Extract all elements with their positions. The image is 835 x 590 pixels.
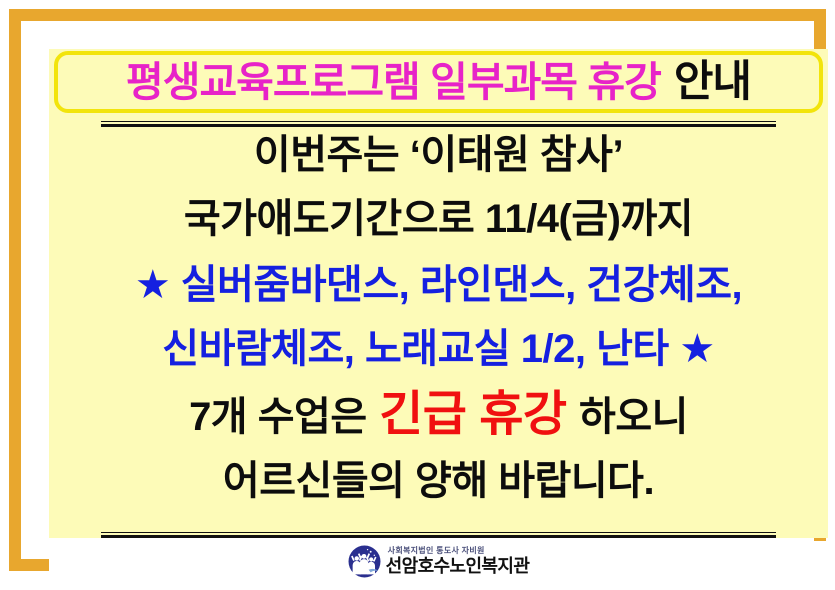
body-line-2: 국가애도기간으로 11/4(금)까지 <box>49 199 828 239</box>
organization-center-name: 선암호수노인복지관 <box>386 557 530 575</box>
body-line-1: 이번주는 ‘이태원 참사’ <box>49 135 828 175</box>
body-line-3-courses-a: ★ 실버줌바댄스, 라인댄스, 건강체조, <box>49 265 828 305</box>
divider-bottom <box>101 532 776 538</box>
content-panel: 평생교육프로그램 일부과목 휴강 안내 이번주는 ‘이태원 참사’ 국가애도기간… <box>49 49 828 538</box>
body-line-5: 7개 수업은 긴급 휴강 하오니 <box>49 391 828 439</box>
body-line-5-prefix: 7개 수업은 <box>189 395 367 439</box>
body-text-block: 이번주는 ‘이태원 참사’ 국가애도기간으로 11/4(금)까지 ★ 실버줌바댄… <box>49 131 828 501</box>
organization-logo-text: 사회복지법인 통도사 자비원 선암호수노인복지관 <box>386 547 530 575</box>
poster-frame: 평생교육프로그램 일부과목 휴강 안내 이번주는 ‘이태원 참사’ 국가애도기간… <box>9 9 826 571</box>
body-line-6: 어르신들의 양해 바랍니다. <box>49 461 828 501</box>
divider-top <box>101 121 776 127</box>
title-suffix-text: 안내 <box>674 61 751 104</box>
footer-logo-area: 사회복지법인 통도사 자비원 선암호수노인복지관 <box>49 541 828 581</box>
welfare-center-emblem-icon <box>348 545 381 578</box>
title-highlight-text: 평생교육프로그램 일부과목 휴강 <box>126 62 661 103</box>
poster-root: 평생교육프로그램 일부과목 휴강 안내 이번주는 ‘이태원 참사’ 국가애도기간… <box>0 0 835 590</box>
organization-logo: 사회복지법인 통도사 자비원 선암호수노인복지관 <box>348 545 530 578</box>
body-line-5-suffix: 하오니 <box>579 395 688 439</box>
body-line-4-courses-b: 신바람체조, 노래교실 1/2, 난타 ★ <box>49 329 828 369</box>
organization-foundation-name: 사회복지법인 통도사 자비원 <box>388 547 530 555</box>
title-box: 평생교육프로그램 일부과목 휴강 안내 <box>54 51 823 113</box>
body-line-5-emphasis: 긴급 휴강 <box>379 388 566 441</box>
